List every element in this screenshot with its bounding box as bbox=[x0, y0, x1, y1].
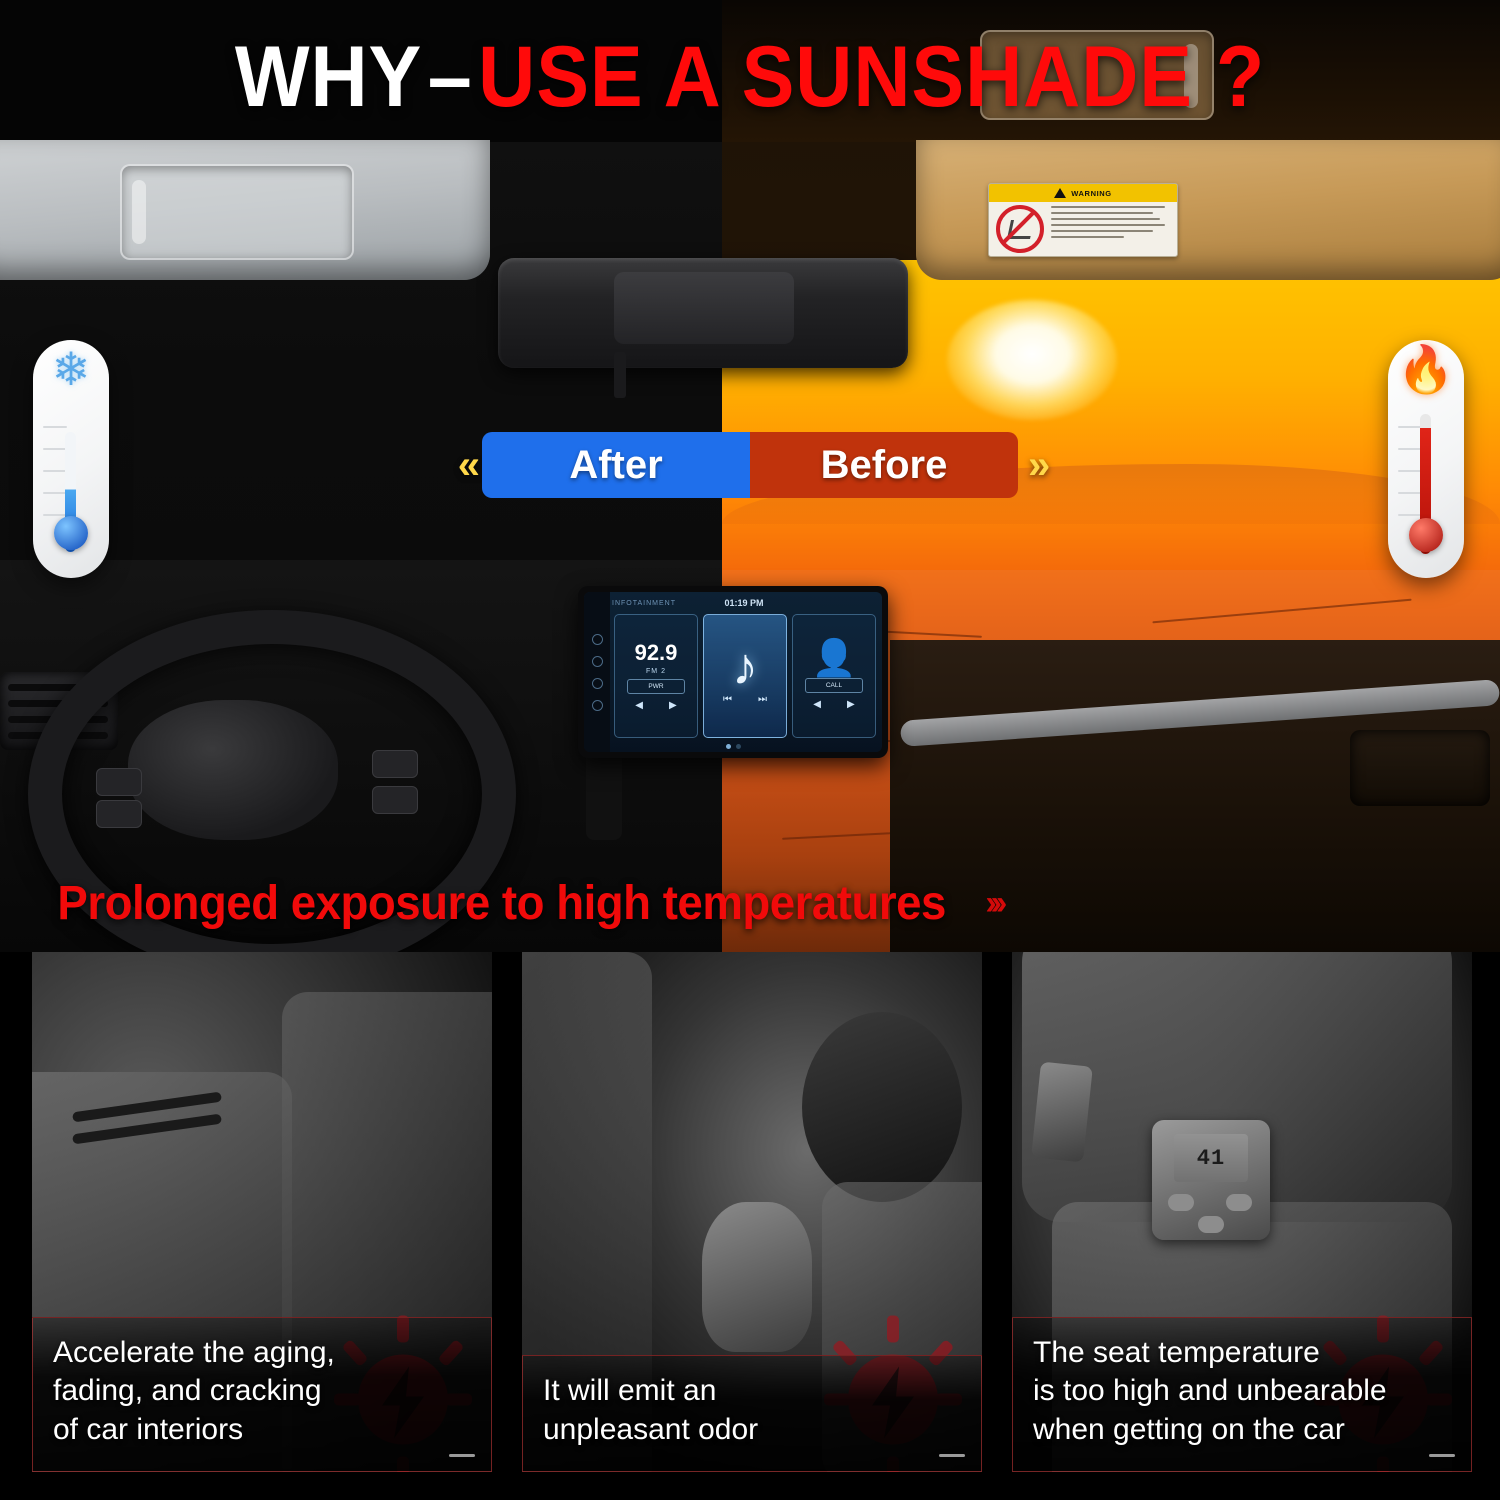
hot-thermometer-bulb bbox=[1409, 518, 1443, 552]
child-seat-glyph bbox=[1007, 220, 1034, 239]
infotainment-display[interactable]: INFOTAINMENT 01:19 PM 92.9 FM 2 PWR ◀ ▶ bbox=[578, 586, 888, 758]
page-indicator bbox=[584, 744, 882, 749]
panel-caption-box: Accelerate the aging, fading, and cracki… bbox=[32, 1317, 492, 1472]
mirror-mount-pad bbox=[614, 272, 794, 344]
infotainment-side-buttons[interactable] bbox=[584, 592, 610, 752]
snowflake-icon: ❄ bbox=[33, 346, 109, 392]
sun bbox=[947, 300, 1117, 420]
radio-prev-icon[interactable]: ◀ bbox=[635, 700, 643, 711]
product-infographic: WARNING bbox=[0, 0, 1500, 1500]
steering-control-left bbox=[96, 768, 142, 796]
panel-caption-box: It will emit an unpleasant odor bbox=[522, 1355, 982, 1472]
before-after-toggle[interactable]: « After Before » bbox=[0, 432, 1500, 498]
title-word-why: WHY bbox=[235, 29, 422, 125]
cold-thermometer-bulb bbox=[54, 516, 88, 550]
steering-control-right2 bbox=[372, 786, 418, 814]
thermometer-grip bbox=[1031, 1062, 1093, 1163]
air-vent-right bbox=[1350, 730, 1490, 806]
radio-band: FM 2 bbox=[646, 668, 666, 675]
panel-odor: It will emit an unpleasant odor bbox=[522, 952, 982, 1472]
media-rewind-icon[interactable]: ⏮ bbox=[723, 694, 732, 705]
panel-aging: Accelerate the aging, fading, and cracki… bbox=[32, 952, 492, 1472]
page-title: WHY–USE A SUNSHADE ? bbox=[60, 28, 1440, 127]
person-icon: 👤 bbox=[812, 642, 857, 674]
menu-button-icon[interactable] bbox=[592, 700, 603, 711]
media-forward-icon[interactable]: ⏭ bbox=[758, 694, 767, 705]
warning-label-header: WARNING bbox=[989, 184, 1177, 202]
volume-button-icon[interactable] bbox=[592, 678, 603, 689]
steering-control-right bbox=[372, 750, 418, 778]
panel-caption-text: The seat temperature is too high and unb… bbox=[1013, 1318, 1471, 1471]
right-chevron-icon: » bbox=[1018, 443, 1052, 488]
consequence-panels: Accelerate the aging, fading, and cracki… bbox=[0, 952, 1500, 1500]
caption-underscore bbox=[939, 1454, 965, 1457]
heat-banner-text: Prolonged exposure to high temperatures bbox=[57, 876, 946, 931]
panel-caption-text: It will emit an unpleasant odor bbox=[523, 1356, 981, 1471]
banner-chevrons-icon: ››› bbox=[985, 884, 1001, 923]
warning-triangle-icon bbox=[1054, 188, 1066, 198]
mirror-stem bbox=[614, 352, 626, 398]
thermometer-button-center bbox=[1198, 1216, 1224, 1233]
prohibition-sign-icon bbox=[996, 205, 1044, 253]
title-dash: – bbox=[428, 29, 473, 125]
warning-label-heading: WARNING bbox=[1071, 189, 1111, 198]
panel-caption-text: Accelerate the aging, fading, and cracki… bbox=[33, 1318, 491, 1471]
flame-icon: 🔥 bbox=[1388, 346, 1464, 392]
page-dot-active bbox=[726, 744, 731, 749]
home-button-icon[interactable] bbox=[592, 656, 603, 667]
sun-visor-left bbox=[0, 140, 490, 280]
power-button-icon[interactable] bbox=[592, 634, 603, 645]
radio-next-icon[interactable]: ▶ bbox=[669, 700, 677, 711]
caption-underscore bbox=[1429, 1454, 1455, 1457]
after-badge[interactable]: After bbox=[482, 432, 750, 498]
heat-banner: Prolonged exposure to high temperatures … bbox=[34, 876, 1001, 931]
thermometer-button-left bbox=[1168, 1194, 1194, 1211]
steering-control-left2 bbox=[96, 800, 142, 828]
contacts-card[interactable]: 👤 CALL ◀ ▶ bbox=[792, 614, 876, 738]
screen-mount-bracket bbox=[586, 756, 622, 840]
title-word-sunshade: USE A SUNSHADE ? bbox=[478, 29, 1265, 125]
visor-pocket-left bbox=[120, 164, 354, 260]
caption-underscore bbox=[449, 1454, 475, 1457]
panel-seat-temp: 41 bbox=[1012, 952, 1472, 1472]
left-chevron-icon: « bbox=[448, 443, 482, 488]
media-card[interactable]: ♪ ⏮ ⏭ bbox=[703, 614, 787, 738]
radio-card[interactable]: 92.9 FM 2 PWR ◀ ▶ bbox=[614, 614, 698, 738]
page-dot bbox=[736, 744, 741, 749]
contacts-prev-icon[interactable]: ◀ bbox=[813, 699, 821, 710]
before-after-hero: WARNING bbox=[0, 0, 1500, 952]
thermometer-button-right bbox=[1226, 1194, 1252, 1211]
contacts-next-icon[interactable]: ▶ bbox=[847, 699, 855, 710]
no-child-seat-pictogram bbox=[989, 202, 1051, 256]
contacts-call-pill[interactable]: CALL bbox=[805, 678, 863, 693]
airbag-warning-label: WARNING bbox=[988, 183, 1178, 257]
thermometer-lcd: 41 bbox=[1174, 1134, 1248, 1182]
thermometer-reading: 41 bbox=[1197, 1146, 1225, 1171]
rearview-mirror bbox=[498, 258, 908, 368]
music-note-icon: ♪ bbox=[732, 647, 758, 689]
before-badge[interactable]: Before bbox=[750, 432, 1018, 498]
radio-preset-pill[interactable]: PWR bbox=[627, 679, 685, 694]
warning-label-text-lines bbox=[1051, 202, 1177, 256]
infotainment-clock: 01:19 PM bbox=[612, 598, 876, 608]
panel-caption-box: The seat temperature is too high and unb… bbox=[1012, 1317, 1472, 1472]
steering-wheel-hub bbox=[128, 700, 338, 840]
radio-frequency: 92.9 bbox=[635, 642, 678, 664]
infrared-thermometer-gun: 41 bbox=[1152, 1120, 1270, 1240]
